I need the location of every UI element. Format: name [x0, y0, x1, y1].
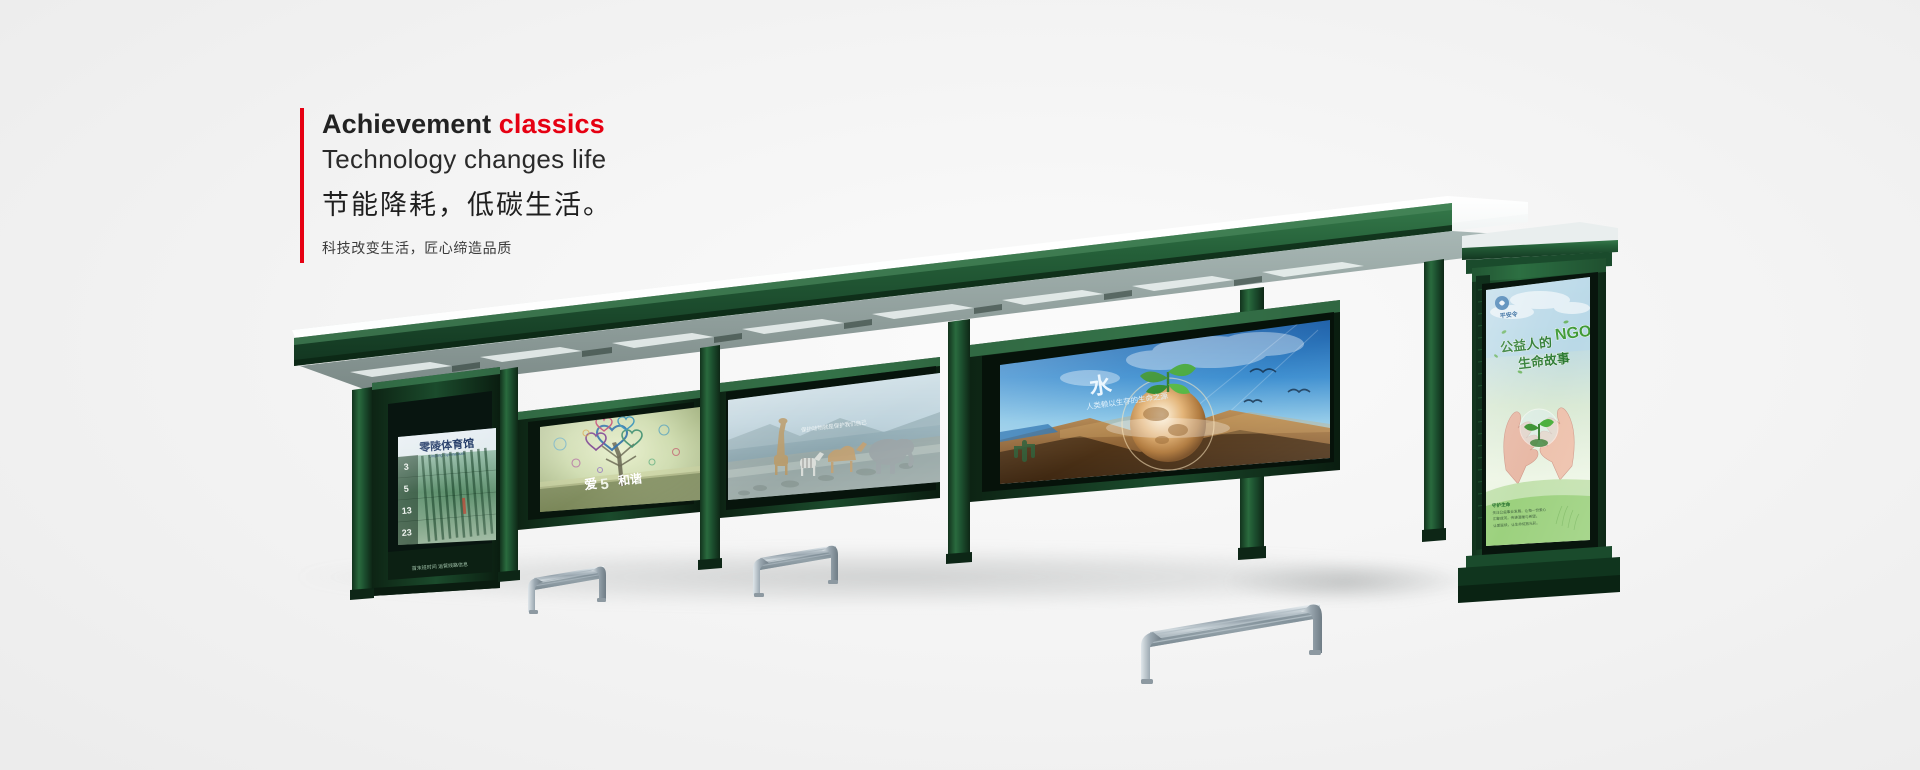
panel-wildlife[interactable]: 保护动物就是保护我们自己	[720, 357, 940, 518]
panel-route-sign[interactable]: 零陵体育馆 Lingling Gymnasium 3 5 13 23	[372, 367, 500, 596]
bench-2	[753, 545, 838, 597]
bus-shelter-scene: 零陵体育馆 Lingling Gymnasium 3 5 13 23	[0, 0, 1920, 770]
bench-1	[528, 566, 606, 614]
panel-heart-tree[interactable]: 爱 5 和谐	[518, 390, 700, 530]
vertical-kiosk[interactable]: 平安令 公益人的 NGO 生命故事	[1458, 222, 1620, 603]
panel-water[interactable]: 水 人类赖以生存的生命之源	[970, 300, 1340, 502]
bench-3	[1141, 603, 1322, 684]
